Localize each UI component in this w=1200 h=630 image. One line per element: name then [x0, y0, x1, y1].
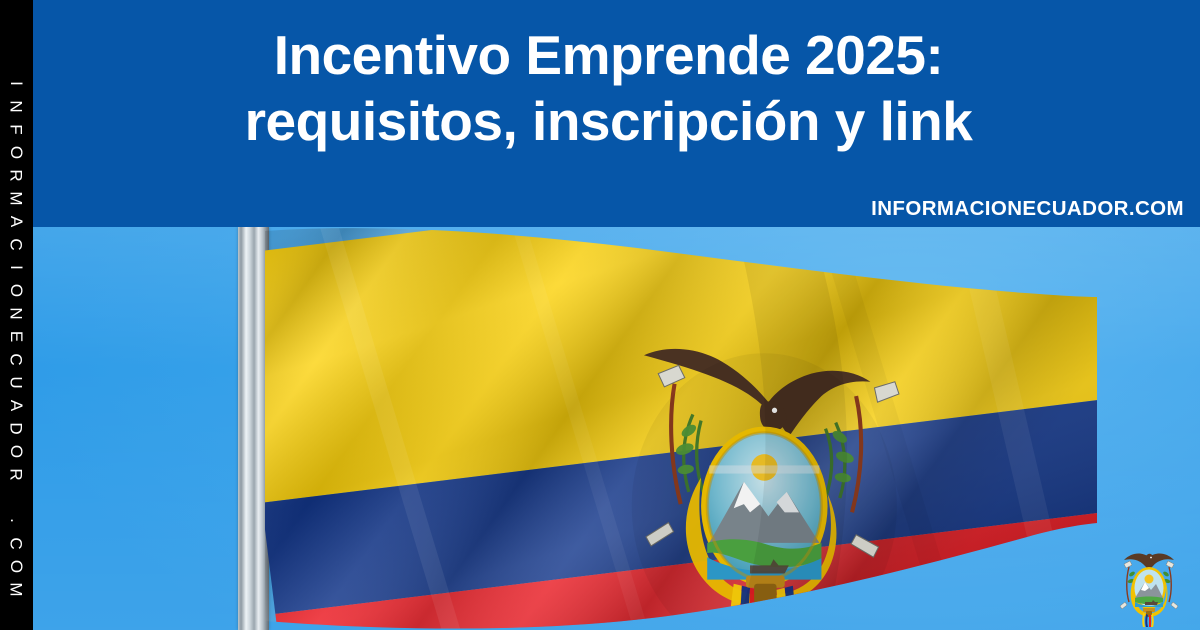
watermark-letter: O — [5, 146, 28, 159]
watermark-letter: U — [5, 376, 28, 388]
watermark-sidebar: INFORMACIONECUADOR .COM — [0, 0, 33, 630]
watermark-letter: D — [5, 422, 28, 434]
watermark-letter: R — [5, 468, 28, 480]
watermark-letter: F — [5, 124, 28, 134]
page-title: Incentivo Emprende 2025: requisitos, ins… — [33, 22, 1184, 154]
watermark-letter: C — [5, 238, 28, 250]
watermark-letter: A — [5, 400, 28, 411]
watermark-letter: O — [5, 284, 28, 297]
watermark-letter: C — [5, 353, 28, 365]
ecuador-flag — [265, 227, 1097, 630]
watermark-letter: O — [5, 445, 28, 458]
watermark-letter: C — [5, 537, 28, 549]
flag-photo — [33, 227, 1200, 630]
watermark-letter: . — [5, 518, 28, 523]
watermark-letter — [5, 495, 28, 500]
escudo-del-ecuador-icon — [1112, 540, 1186, 628]
watermark-letter: O — [5, 560, 28, 573]
watermark-letter: R — [5, 169, 28, 181]
watermark-letter: N — [5, 307, 28, 319]
watermark-letter: A — [5, 216, 28, 227]
watermark-letter: I — [5, 265, 28, 270]
watermark-letter: M — [5, 191, 28, 205]
watermark-letter: M — [5, 582, 28, 596]
watermark-vertical-text: INFORMACIONECUADOR .COM — [0, 72, 33, 601]
title-banner: Incentivo Emprende 2025: requisitos, ins… — [33, 0, 1200, 227]
watermark-letter: I — [5, 81, 28, 86]
featured-image-canvas: Incentivo Emprende 2025: requisitos, ins… — [0, 0, 1200, 630]
watermark-letter: E — [5, 331, 28, 342]
watermark-letter: N — [5, 100, 28, 112]
site-url-label: INFORMACIONECUADOR.COM — [871, 197, 1184, 221]
